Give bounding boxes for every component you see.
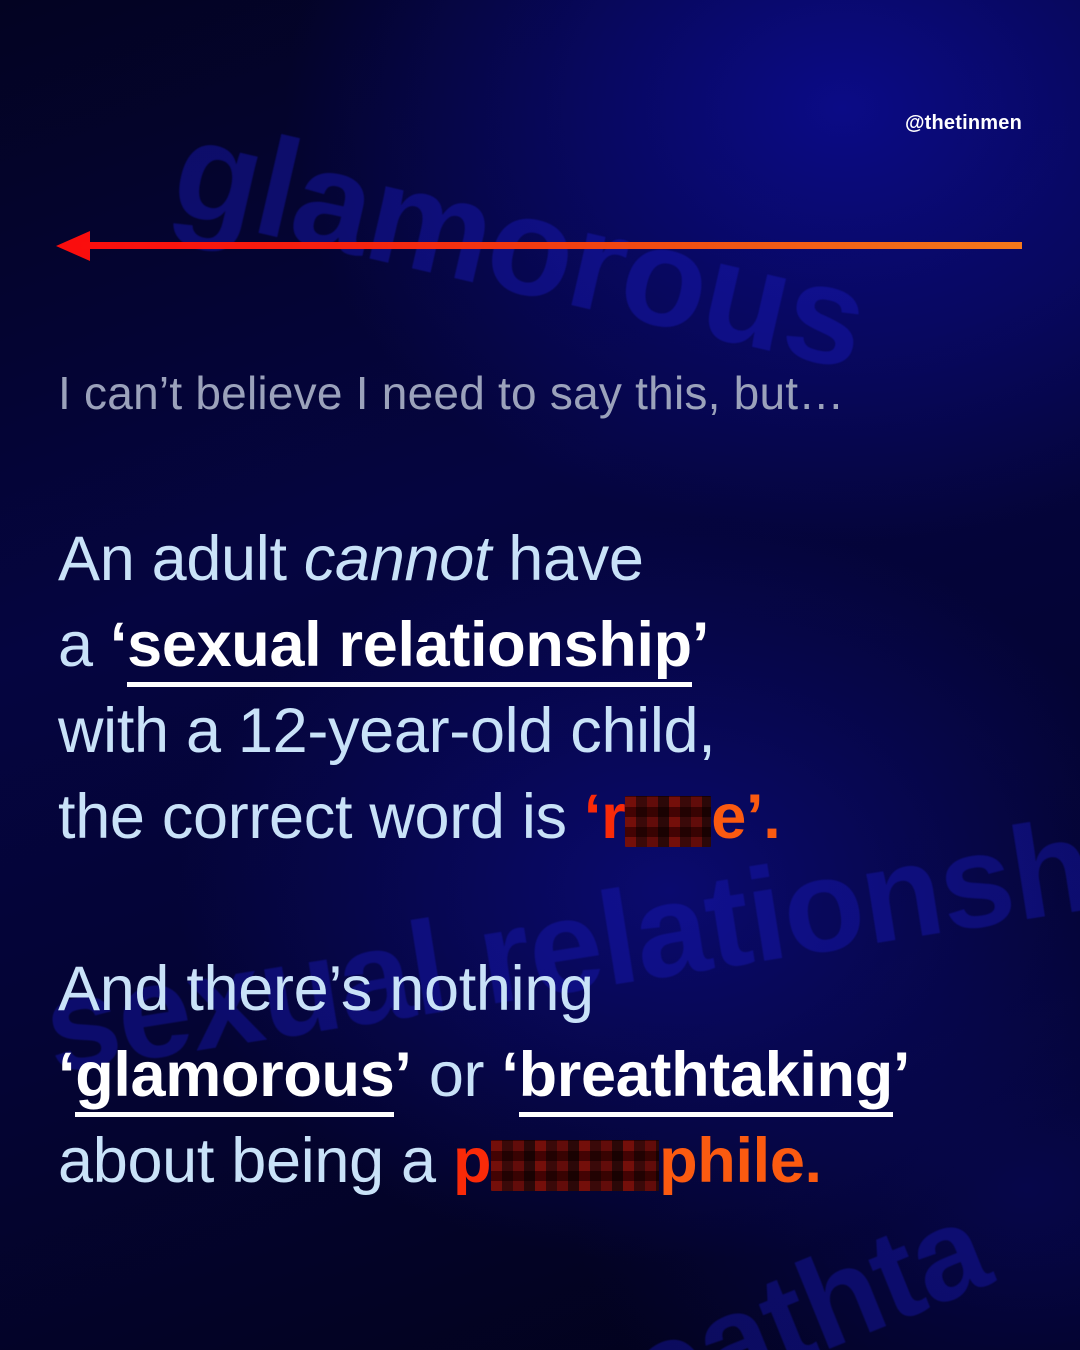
highlight-breathtaking: breathtaking	[519, 1040, 893, 1117]
highlight-glamorous: glamorous	[75, 1040, 394, 1117]
censored-suffix: phile.	[659, 1126, 822, 1196]
line-1: An adult cannot have	[58, 516, 1038, 602]
line-1-seg-3: have	[491, 524, 644, 594]
line-7: about being a pphile.	[58, 1118, 1038, 1204]
line-3-seg-1: with a 12-year-old child,	[58, 696, 715, 766]
kicker-text: I can’t believe I need to say this, but…	[58, 366, 845, 420]
body-copy: An adult cannot have a ‘sexual relations…	[58, 516, 1038, 1204]
quote-open-glamorous: ‘	[58, 1040, 75, 1110]
line-1-seg-1: An adult	[58, 524, 304, 594]
line-2-seg-1: a	[58, 610, 110, 680]
post-canvas: glamorous sexual relationsh breathta @th…	[0, 0, 1080, 1350]
paragraph-1: An adult cannot have a ‘sexual relations…	[58, 516, 1038, 860]
quote-open-breathtaking: ‘	[501, 1040, 518, 1110]
quote-close-sexual-relationship: ’	[692, 610, 709, 680]
censored-suffix: e’.	[711, 782, 780, 852]
quote-close-breathtaking: ’	[893, 1040, 910, 1110]
paragraph-2: And there’s nothing ‘glamorous’ or ‘brea…	[58, 946, 1038, 1204]
redaction-block	[625, 796, 711, 846]
censored-word-paedophile: pphile.	[453, 1126, 822, 1196]
line-1-seg-2-emphasis: cannot	[304, 524, 491, 594]
line-5: And there’s nothing	[58, 946, 1038, 1032]
line-3: with a 12-year-old child,	[58, 688, 1038, 774]
redaction-block	[491, 1140, 659, 1190]
censored-prefix: ‘r	[584, 782, 625, 852]
line-4: the correct word is ‘re’.	[58, 774, 1038, 860]
line-5-seg-1: And there’s nothing	[58, 954, 594, 1024]
censored-word-rape: ‘re’.	[584, 782, 781, 852]
highlight-sexual-relationship: sexual relationship	[127, 610, 692, 687]
censored-prefix: p	[453, 1126, 491, 1196]
line-6-conjunction: or	[412, 1040, 502, 1110]
gradient-rule	[76, 242, 1022, 249]
quote-close-glamorous: ’	[394, 1040, 411, 1110]
line-4-seg-1: the correct word is	[58, 782, 584, 852]
line-2: a ‘sexual relationship’	[58, 602, 1038, 688]
line-6: ‘glamorous’ or ‘breathtaking’	[58, 1032, 1038, 1118]
quote-open-sexual-relationship: ‘	[110, 610, 127, 680]
arrow-divider	[56, 228, 1022, 264]
author-handle[interactable]: @thetinmen	[905, 112, 1022, 135]
line-7-seg-1: about being a	[58, 1126, 453, 1196]
